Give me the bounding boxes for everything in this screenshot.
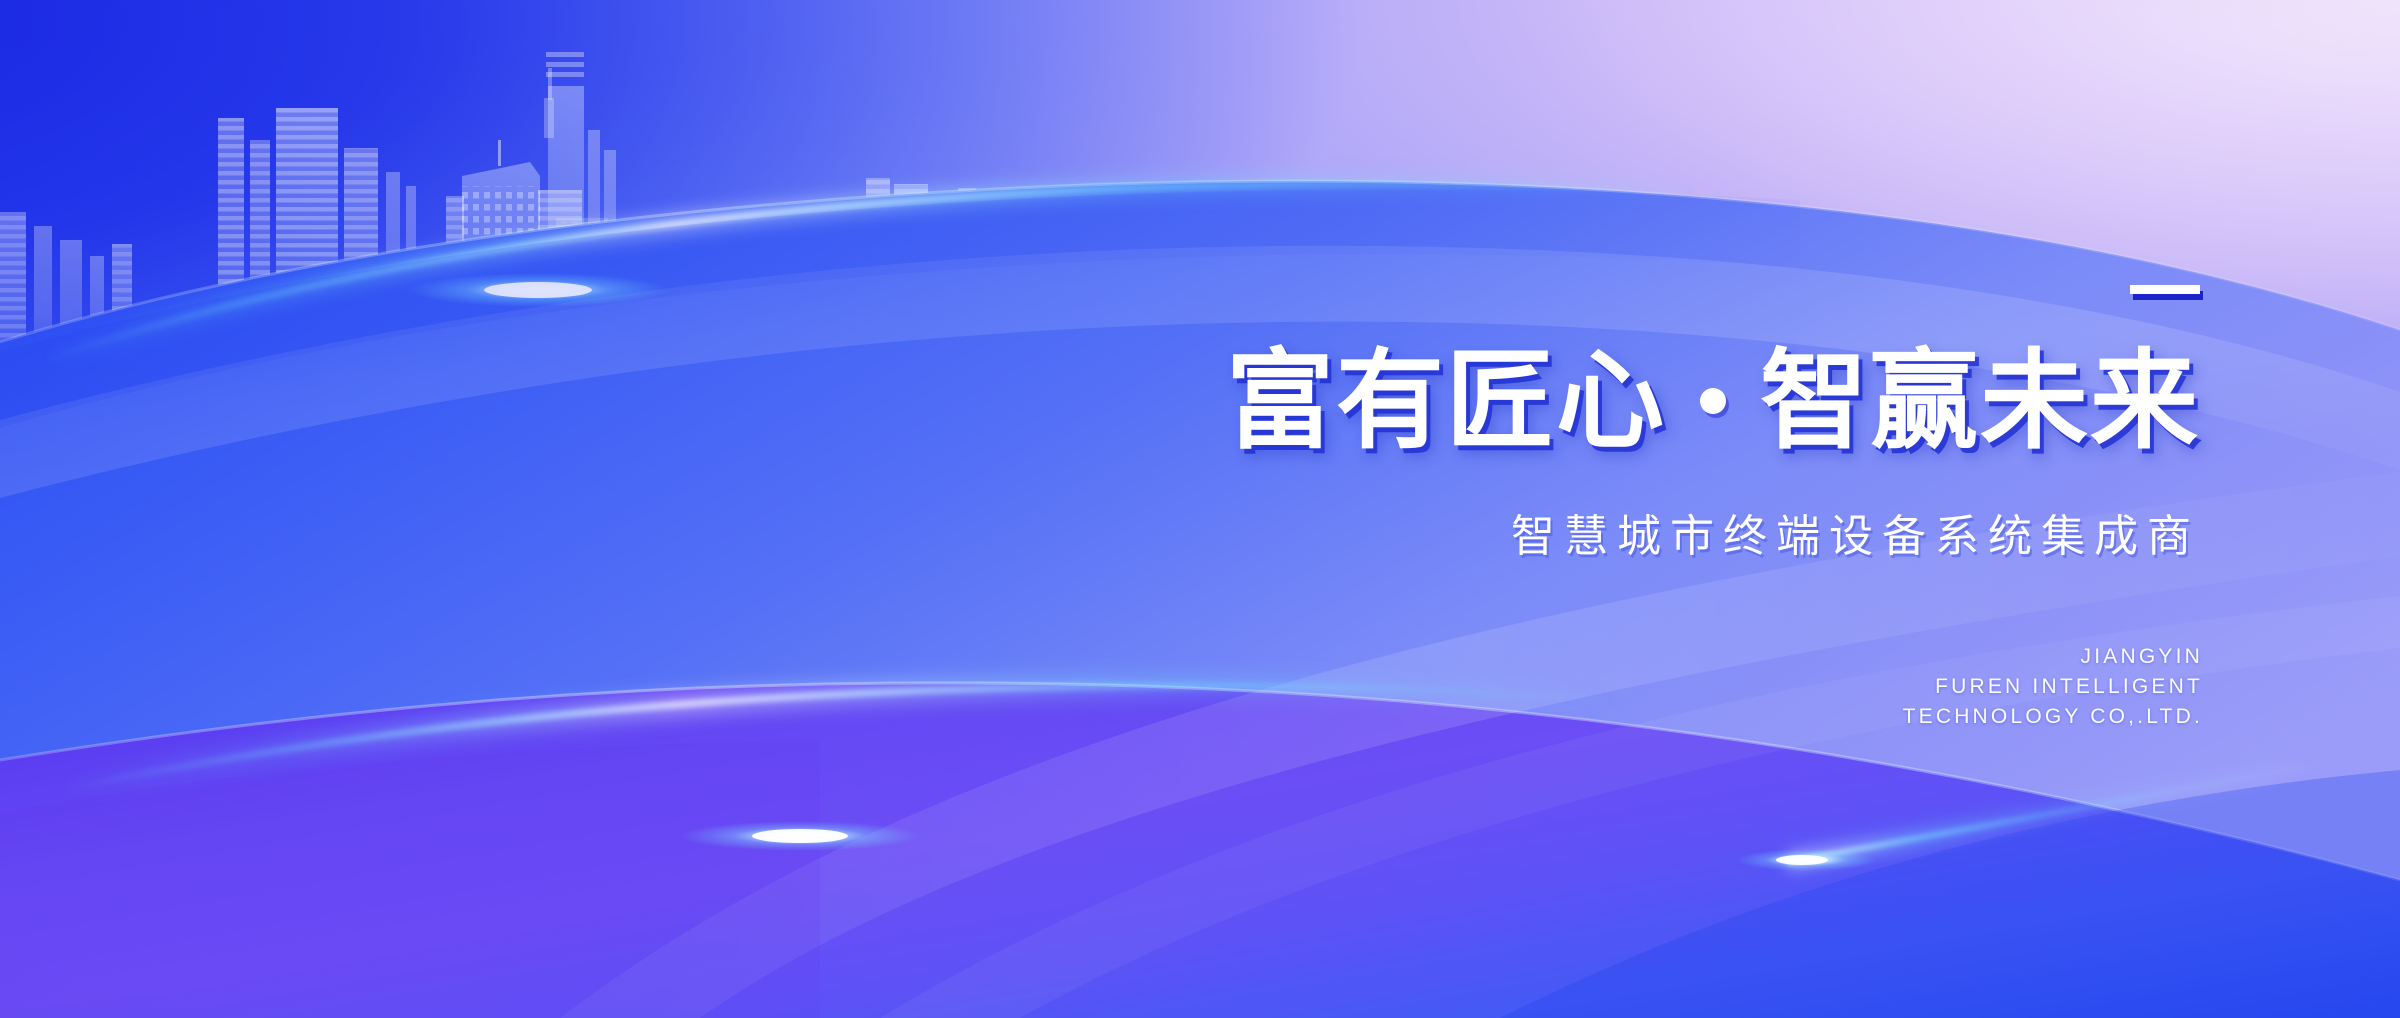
vignette-overlay [0,0,2400,1018]
marketing-banner: 富有匠心 智赢未来 智慧城市终端设备系统集成商 JIANGYIN FUREN I… [0,0,2400,1018]
